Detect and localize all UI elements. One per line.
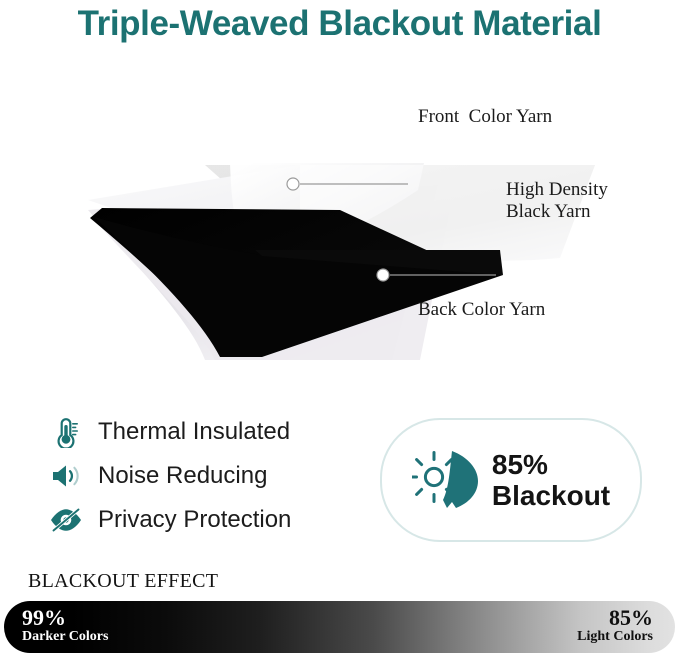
- blackout-effect-heading: BLACKOUT EFFECT: [28, 570, 218, 593]
- blackout-gradient-bar: 99% Darker Colors 85% Light Colors: [4, 601, 675, 653]
- feature-label-noise-reducing: Noise Reducing: [98, 462, 267, 490]
- features-list: Thermal Insulated Noise Reducing Privacy…: [48, 410, 368, 542]
- thermometer-icon: [48, 414, 84, 450]
- callout-label-front-color-yarn: Front Color Yarn: [418, 106, 552, 128]
- light-colors-caption: Light Colors: [577, 629, 653, 645]
- light-colors-percent: 85%: [577, 606, 653, 629]
- blackout-effect-section: BLACKOUT EFFECT 99% Darker Colors 85% Li…: [0, 570, 679, 655]
- blackout-badge-caption: Blackout: [492, 480, 610, 511]
- light-colors-stat: 85% Light Colors: [577, 606, 653, 645]
- page-title: Triple-Weaved Blackout Material: [0, 0, 679, 48]
- callout-label-high-density-black-yarn: High Density Black Yarn: [506, 179, 608, 224]
- dark-colors-caption: Darker Colors: [22, 629, 108, 645]
- feature-label-privacy-protection: Privacy Protection: [98, 506, 291, 534]
- feature-label-thermal-insulated: Thermal Insulated: [98, 418, 290, 446]
- dark-colors-percent: 99%: [22, 606, 108, 629]
- feature-item-privacy-protection: Privacy Protection: [48, 498, 368, 542]
- blackout-badge-percent: 85%: [492, 449, 548, 480]
- eye-off-icon: [48, 502, 84, 538]
- blackout-badge: 85% Blackout: [380, 418, 642, 542]
- feature-item-thermal-insulated: Thermal Insulated: [48, 410, 368, 454]
- speaker-sound-icon: [48, 458, 84, 494]
- feature-item-noise-reducing: Noise Reducing: [48, 454, 368, 498]
- callout-label-back-color-yarn: Back Color Yarn: [418, 299, 545, 321]
- dark-colors-stat: 99% Darker Colors: [22, 606, 108, 645]
- blackout-badge-text: 85% Blackout: [492, 449, 610, 512]
- sun-blocked-by-shade-icon: [412, 448, 486, 512]
